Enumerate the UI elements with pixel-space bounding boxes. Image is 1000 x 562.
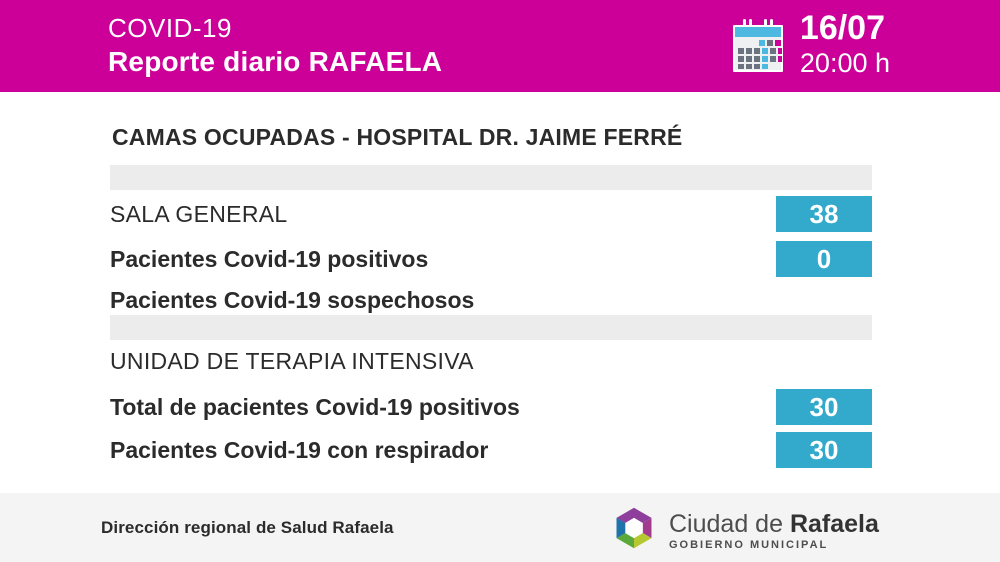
covid-daily-report-card: COVID-19 Reporte diario RAFAELA xyxy=(0,0,1000,562)
status-badge: 0 xyxy=(776,241,872,277)
row-label: Pacientes Covid-19 con respirador xyxy=(110,437,488,464)
row-label: Total de pacientes Covid-19 positivos xyxy=(110,394,520,421)
header-title: Reporte diario RAFAELA xyxy=(108,44,442,80)
table-row: Total de pacientes Covid-19 positivos 30 xyxy=(110,388,872,426)
section-divider-band xyxy=(110,165,872,190)
table-row: Pacientes Covid-19 positivos 0 xyxy=(110,240,872,278)
report-footer: Dirección regional de Salud Rafaela xyxy=(0,493,1000,562)
report-body: CAMAS OCUPADAS - HOSPITAL DR. JAIME FERR… xyxy=(0,92,1000,493)
logo-city-bold: Rafaela xyxy=(790,510,879,538)
city-logo: Ciudad de Rafaela GOBIERNO MUNICIPAL xyxy=(611,505,879,556)
footer-source-label: Dirección regional de Salud Rafaela xyxy=(101,518,394,538)
row-label: SALA GENERAL xyxy=(110,201,287,228)
row-label: Pacientes Covid-19 positivos xyxy=(110,246,428,273)
table-row: SALA GENERAL 38 xyxy=(110,195,872,233)
report-time: 20:00 h xyxy=(800,47,890,79)
header-date-block: 16/07 20:00 h xyxy=(730,10,890,79)
calendar-icon xyxy=(730,18,786,79)
report-header: COVID-19 Reporte diario RAFAELA xyxy=(0,0,1000,92)
status-badge: 30 xyxy=(776,432,872,468)
header-title-block: COVID-19 Reporte diario RAFAELA xyxy=(108,12,442,80)
date-time-text: 16/07 20:00 h xyxy=(800,10,890,79)
status-badge xyxy=(776,282,872,318)
table-row: Pacientes Covid-19 sospechosos xyxy=(110,281,872,319)
page-title: CAMAS OCUPADAS - HOSPITAL DR. JAIME FERR… xyxy=(112,124,682,151)
logo-wordmark: Ciudad de Rafaela GOBIERNO MUNICIPAL xyxy=(669,511,879,552)
logo-city-name: Ciudad de Rafaela xyxy=(669,511,879,538)
table-row: UNIDAD DE TERAPIA INTENSIVA xyxy=(110,342,872,380)
hexagon-logo-icon xyxy=(611,505,657,556)
status-badge: 30 xyxy=(776,389,872,425)
logo-city-light: Ciudad de xyxy=(669,510,790,538)
header-subtitle: COVID-19 xyxy=(108,12,442,44)
status-badge xyxy=(776,343,872,379)
logo-tagline: GOBIERNO MUNICIPAL xyxy=(669,538,879,552)
row-label: UNIDAD DE TERAPIA INTENSIVA xyxy=(110,348,474,375)
row-label: Pacientes Covid-19 sospechosos xyxy=(110,287,474,314)
section-divider-band xyxy=(110,315,872,340)
status-badge: 38 xyxy=(776,196,872,232)
table-row: Pacientes Covid-19 con respirador 30 xyxy=(110,431,872,469)
report-date: 16/07 xyxy=(800,10,890,47)
